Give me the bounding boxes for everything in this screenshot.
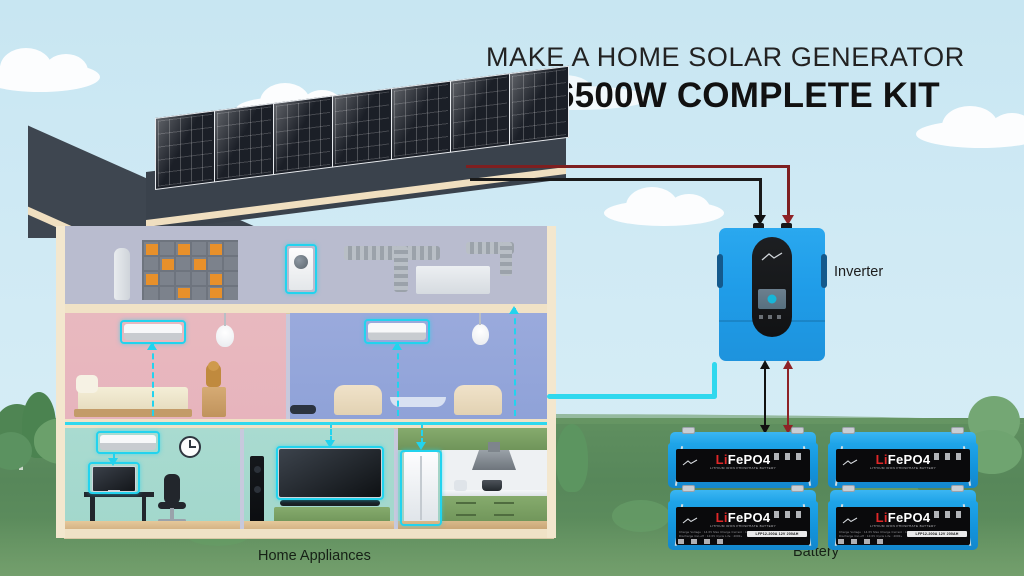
- side-object: [290, 405, 316, 414]
- speaker-driver: [254, 466, 261, 473]
- power-arrow-living-ac: [392, 342, 402, 350]
- vase: [114, 248, 130, 300]
- ceiling-lamp: [472, 324, 489, 345]
- label-inverter: Inverter: [834, 264, 883, 280]
- battery-brand-name: LiFePO4: [676, 453, 810, 466]
- battery-spec-row: Charge Voltage : 14.6V Max Charge Curren…: [839, 530, 967, 539]
- battery-front-label: LiFePO4 LITHIUM IRON PHOSPHATE BATTERY: [676, 449, 810, 482]
- battery-front-label: LiFePO4 LITHIUM IRON PHOSPHATE BATTERY C…: [676, 507, 810, 545]
- battery-certification-marks: [838, 539, 884, 544]
- air-duct: [344, 246, 440, 260]
- soundbar: [280, 500, 380, 506]
- range-hood: [472, 450, 516, 470]
- power-arrow-bedroom-ac: [147, 342, 157, 350]
- floor-slab: [64, 529, 554, 538]
- battery-link-positive: [787, 360, 789, 434]
- battery-brand-name: LiFePO4: [836, 511, 970, 524]
- battery-terminal-positive: [791, 485, 804, 492]
- cabinet-handle: [494, 514, 514, 516]
- shelf-box: [210, 288, 222, 298]
- battery-brand-rest: FePO4: [888, 452, 931, 467]
- solar-panel: [450, 73, 510, 153]
- inverter-unit: [719, 228, 825, 361]
- lamp-cord: [479, 313, 481, 325]
- air-duct: [394, 246, 408, 292]
- highlight-television: [276, 446, 384, 500]
- highlight-monitor: [88, 462, 140, 494]
- speaker-driver: [254, 486, 261, 493]
- highlight-washing-machine: [285, 244, 317, 294]
- house-interior: [64, 226, 554, 538]
- battery-terminal-positive: [951, 485, 964, 492]
- clock-hand: [189, 446, 196, 448]
- battery-front-label: LiFePO4 LITHIUM IRON PHOSPHATE BATTERY: [836, 449, 970, 482]
- armchair: [334, 385, 382, 415]
- inverter-front-panel: [752, 237, 792, 337]
- power-arrow-monitor: [108, 458, 118, 466]
- infographic-canvas: MAKE A HOME SOLAR GENERATOR 6500W COMPLE…: [0, 0, 1024, 576]
- highlight-bedroom-ac: [120, 320, 186, 344]
- lamp-cord: [224, 313, 226, 326]
- battery-subtitle: LITHIUM IRON PHOSPHATE BATTERY: [836, 524, 970, 528]
- battery-terminal-positive: [791, 427, 804, 434]
- highlight-refrigerator: [400, 450, 442, 526]
- ceiling-lamp: [216, 325, 234, 347]
- battery-brand-prefix: Li: [716, 452, 728, 467]
- tree: [612, 500, 672, 534]
- inverter-side-vent: [717, 254, 723, 288]
- pv-wire-negative-drop: [759, 178, 762, 217]
- battery-terminal-negative: [682, 427, 695, 434]
- battery-brand-rest: FePO4: [728, 452, 771, 467]
- shelf-box: [178, 288, 190, 298]
- power-arrow-television: [325, 440, 335, 448]
- wall-post: [547, 226, 556, 538]
- solar-panel: [155, 110, 215, 190]
- teddy-bear-head: [208, 361, 219, 371]
- battery-brand-rest: FePO4: [728, 510, 771, 525]
- label-home-appliances: Home Appliances: [258, 548, 371, 564]
- ac-output-run: [547, 394, 717, 399]
- power-riser-right: [514, 308, 516, 416]
- battery-terminal-negative: [842, 485, 855, 492]
- pv-wire-positive: [466, 165, 790, 168]
- battery-front-label: LiFePO4 LITHIUM IRON PHOSPHATE BATTERY C…: [836, 507, 970, 545]
- headline-line2: 6500W COMPLETE KIT: [555, 76, 940, 116]
- shelf-box: [146, 274, 158, 285]
- power-line-living-ac: [397, 344, 399, 416]
- battery-subtitle: LITHIUM IRON PHOSPHATE BATTERY: [676, 524, 810, 528]
- battery-brand-prefix: Li: [876, 510, 888, 525]
- bed-frame: [74, 409, 192, 417]
- wall-post: [56, 226, 65, 538]
- bed-pillow: [76, 375, 98, 393]
- inverter-control-buttons[interactable]: [759, 315, 785, 319]
- shelf-box: [194, 259, 206, 270]
- battery-spec-row: Charge Voltage : 14.6V Max Charge Curren…: [679, 530, 807, 539]
- solar-panel: [509, 66, 569, 146]
- inverter-side-vent: [821, 254, 827, 288]
- battery-model-tag: LFP12-200A 12V 200AH: [907, 531, 967, 537]
- kettle: [454, 480, 467, 491]
- solar-panel: [391, 81, 451, 161]
- power-line-bedroom-ac: [152, 344, 154, 416]
- cabinet-handle: [456, 514, 476, 516]
- battery-terminal-positive: [951, 427, 964, 434]
- shelf-box: [162, 259, 174, 270]
- shelf-box: [178, 244, 190, 255]
- inverter-brand-logo: [761, 248, 783, 257]
- highlight-living-ac: [364, 319, 430, 344]
- battery-unit: LiFePO4 LITHIUM IRON PHOSPHATE BATTERY: [828, 432, 978, 488]
- cabinet-handle: [494, 502, 514, 504]
- solar-panel: [332, 88, 392, 168]
- power-arrow-refrigerator: [416, 442, 426, 450]
- battery-unit: LiFePO4 LITHIUM IRON PHOSPHATE BATTERY C…: [668, 490, 818, 550]
- highlight-office-ac: [96, 431, 160, 454]
- battery-brand-name: LiFePO4: [836, 453, 970, 466]
- range-hood-duct: [488, 442, 500, 452]
- base-cabinets: [442, 496, 554, 524]
- battery-unit: LiFePO4 LITHIUM IRON PHOSPHATE BATTERY: [668, 432, 818, 488]
- pv-wire-negative: [470, 178, 762, 181]
- power-arrow-riser-right: [509, 306, 519, 314]
- inverter-lcd-display: [758, 289, 786, 309]
- power-line-television: [330, 422, 332, 442]
- battery-subtitle: LITHIUM IRON PHOSPHATE BATTERY: [836, 466, 970, 470]
- battery-spec-line2: Discharge Cut-off : 10.0V Cycle Life : 4…: [839, 534, 902, 538]
- battery-terminal-negative: [842, 427, 855, 434]
- battery-terminal-negative: [682, 485, 695, 492]
- battery-subtitle: LITHIUM IRON PHOSPHATE BATTERY: [676, 466, 810, 470]
- shelf-box: [210, 274, 222, 285]
- shelf-box: [146, 244, 158, 255]
- battery-brand-prefix: Li: [876, 452, 888, 467]
- cloud: [604, 200, 724, 226]
- battery-brand-prefix: Li: [716, 510, 728, 525]
- power-line-refrigerator: [421, 422, 423, 444]
- ac-output-drop: [712, 362, 717, 398]
- battery-brand-rest: FePO4: [888, 510, 931, 525]
- solar-panel: [214, 103, 274, 183]
- battery-brand-name: LiFePO4: [676, 511, 810, 524]
- air-duct-box: [416, 266, 490, 294]
- inverter-lcd-glyph: [768, 295, 777, 304]
- battery-link-negative: [764, 360, 766, 434]
- cabinet-handle: [456, 502, 476, 504]
- air-duct-riser: [500, 242, 512, 276]
- battery-unit: LiFePO4 LITHIUM IRON PHOSPHATE BATTERY C…: [828, 490, 978, 550]
- armchair: [454, 385, 502, 415]
- office-chair-back: [164, 474, 180, 504]
- solar-panel: [273, 96, 333, 176]
- battery-model-tag: LFP12-200A 12V 200AH: [747, 531, 807, 537]
- battery-certification-marks: [678, 539, 724, 544]
- shelf-box: [210, 244, 222, 255]
- nightstand: [202, 387, 226, 417]
- floor-slab: [64, 304, 554, 313]
- power-bus-ground-floor: [64, 422, 554, 425]
- pv-wire-positive-drop: [787, 165, 790, 217]
- house-cutaway: [28, 108, 573, 540]
- battery-spec-line2: Discharge Cut-off : 10.0V Cycle Life : 4…: [679, 534, 742, 538]
- cooking-pot: [482, 480, 502, 491]
